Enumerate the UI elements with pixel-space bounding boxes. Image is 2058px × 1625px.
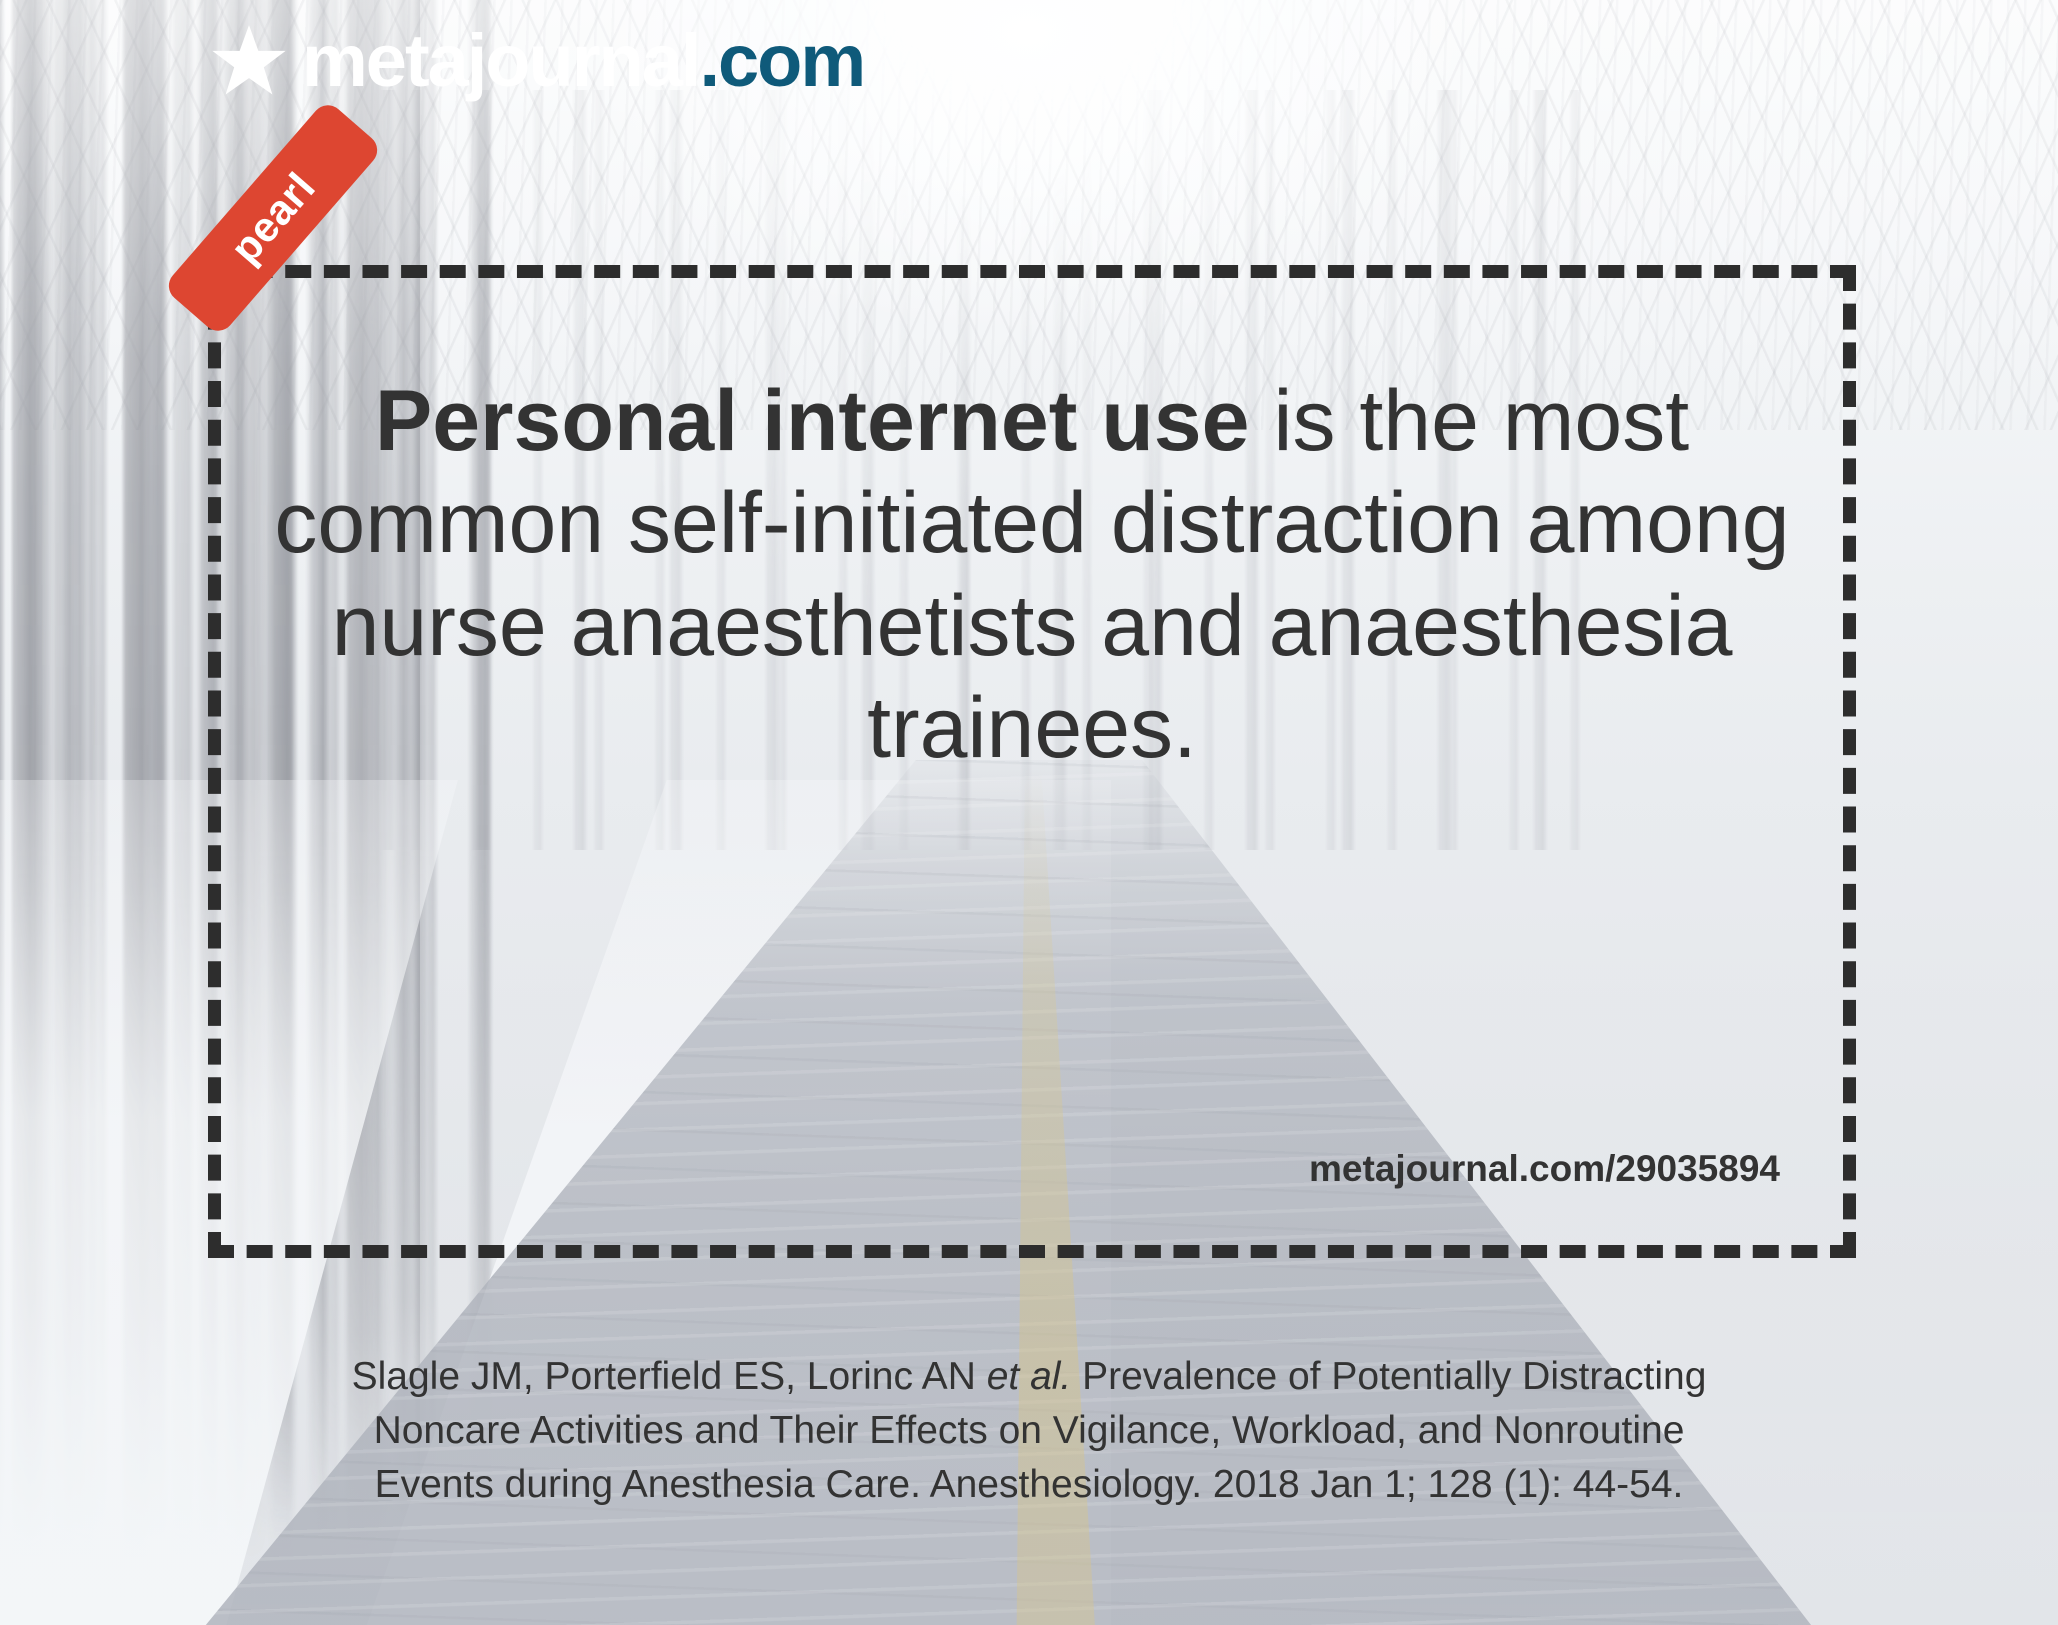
pearl-card: metajournal.com pearl Personal internet … <box>0 0 2058 1625</box>
brand-tld: .com <box>699 19 864 102</box>
star-icon <box>210 22 288 100</box>
pearl-quote-lead: Personal internet use <box>375 373 1250 469</box>
citation-etal: et al. <box>987 1355 1072 1398</box>
citation-title-part-1: Prevalence of Potentially Distracting <box>1071 1355 1706 1398</box>
citation-line-2: Noncare Activities and Their Effects on … <box>129 1404 1929 1458</box>
brand-logo[interactable]: metajournal.com <box>210 22 864 100</box>
citation-block: Slagle JM, Porterfield ES, Lorinc AN et … <box>129 1350 1929 1511</box>
citation-line-3: Events during Anesthesia Care. Anesthesi… <box>129 1458 1929 1512</box>
citation-line-1: Slagle JM, Porterfield ES, Lorinc AN et … <box>129 1350 1929 1404</box>
brand-name: metajournal <box>302 19 699 102</box>
brand-wordmark: metajournal.com <box>302 24 864 98</box>
permalink-url[interactable]: metajournal.com/29035894 <box>1309 1148 1780 1190</box>
pearl-quote: Personal internet use is the most common… <box>258 370 1806 779</box>
citation-authors: Slagle JM, Porterfield ES, Lorinc AN <box>352 1355 987 1398</box>
